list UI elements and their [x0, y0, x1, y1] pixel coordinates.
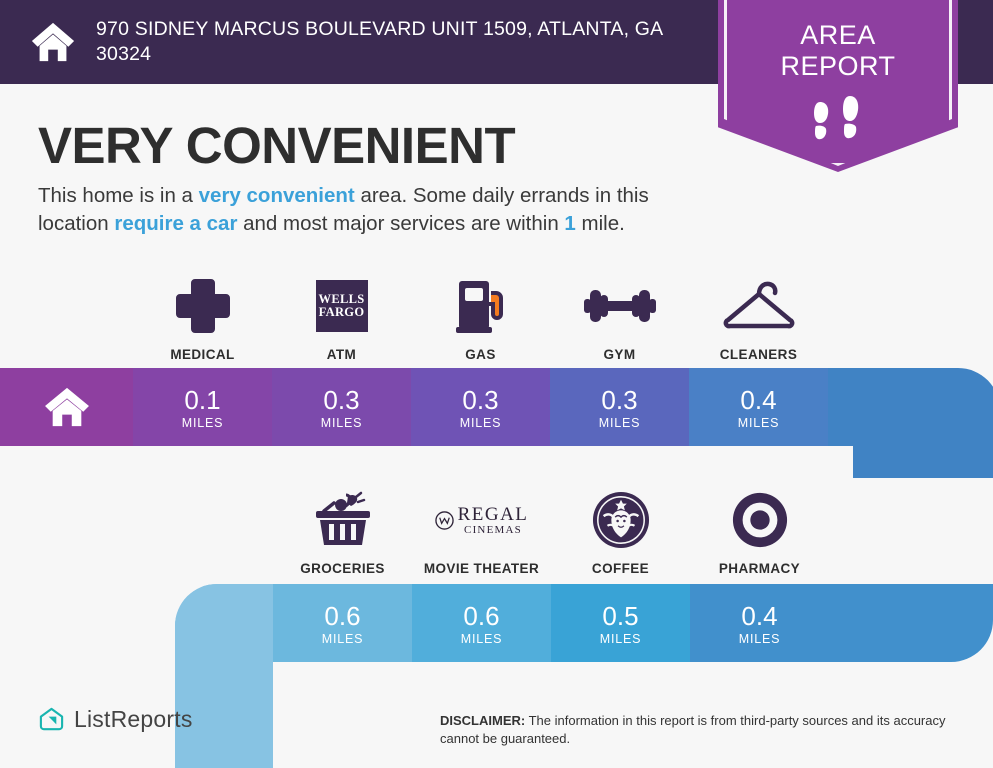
distance-unit: MILES [599, 416, 641, 430]
summary-text-1: This home is in a [38, 184, 199, 207]
service-cleaners: CLEANERS [689, 262, 828, 362]
distance-unit: MILES [460, 416, 502, 430]
listreports-logo-icon [38, 706, 65, 733]
distance-cell-movie-theater: 0.6 MILES [412, 584, 551, 662]
distance-cell-gym: 0.3 MILES [550, 368, 689, 446]
brand-name: ListReports [74, 706, 193, 733]
summary-highlight-2: require a car [114, 212, 237, 235]
distance-value: 0.3 [601, 385, 637, 415]
page-title: VERY CONVENIENT [38, 116, 515, 175]
listreports-brand: ListReports [38, 706, 193, 733]
distance-value: 0.5 [602, 601, 638, 631]
distance-cell-cleaners: 0.4 MILES [689, 368, 828, 446]
distance-value: 0.6 [463, 601, 499, 631]
services-icon-row-top: MEDICAL WELLS FARGO ATM GAS [133, 262, 828, 362]
distance-value: 0.4 [740, 385, 776, 415]
service-coffee: COFFEE [551, 476, 690, 576]
service-medical: MEDICAL [133, 262, 272, 362]
area-report-badge: AREA REPORT [718, 0, 958, 172]
distance-unit: MILES [321, 416, 363, 430]
distance-unit: MILES [461, 632, 503, 646]
service-gas: GAS [411, 262, 550, 362]
home-icon [44, 386, 90, 428]
service-label: GYM [604, 347, 636, 362]
service-label: MEDICAL [170, 347, 234, 362]
services-icon-row-bottom: GROCERIES REGAL CINEMAS MOVIE THEATER [273, 476, 829, 576]
distance-unit: MILES [739, 632, 781, 646]
summary-text-4: mile. [576, 212, 625, 235]
regal-line1: REGAL [458, 505, 529, 524]
badge-title-line2: REPORT [718, 51, 958, 82]
wells-fargo-line2: FARGO [319, 306, 365, 319]
regal-cinemas-logo: REGAL CINEMAS [435, 487, 529, 553]
distance-cell-pharmacy: 0.4 MILES [690, 584, 829, 662]
area-report-infographic: 970 SIDNEY MARCUS BOULEVARD UNIT 1509, A… [0, 0, 993, 768]
summary-highlight-3: 1 [564, 212, 575, 235]
distance-unit: MILES [182, 416, 224, 430]
starbucks-logo [592, 487, 650, 553]
distance-value: 0.4 [741, 601, 777, 631]
distance-unit: MILES [600, 632, 642, 646]
distance-unit: MILES [322, 632, 364, 646]
service-label: GROCERIES [300, 561, 385, 576]
dumbbell-icon [584, 273, 656, 339]
service-label: COFFEE [592, 561, 649, 576]
service-label: PHARMACY [719, 561, 800, 576]
distance-value: 0.3 [462, 385, 498, 415]
service-atm: WELLS FARGO ATM [272, 262, 411, 362]
distance-value: 0.6 [324, 601, 360, 631]
header-address-bar: 970 SIDNEY MARCUS BOULEVARD UNIT 1509, A… [0, 0, 713, 84]
service-label: GAS [465, 347, 495, 362]
medical-cross-icon [174, 273, 232, 339]
summary-highlight-1: very convenient [199, 184, 355, 207]
grocery-basket-icon [312, 487, 374, 553]
service-label: CLEANERS [720, 347, 797, 362]
distance-cell-atm: 0.3 MILES [272, 368, 411, 446]
distance-cell-groceries: 0.6 MILES [273, 584, 412, 662]
service-label: ATM [327, 347, 356, 362]
home-icon [30, 19, 76, 65]
ribbon-bottom-filler [829, 584, 993, 662]
regal-crown-icon [435, 511, 454, 530]
property-address: 970 SIDNEY MARCUS BOULEVARD UNIT 1509, A… [96, 17, 696, 67]
service-label: MOVIE THEATER [424, 561, 539, 576]
disclaimer: DISCLAIMER: The information in this repo… [440, 712, 950, 748]
service-groceries: GROCERIES [273, 476, 412, 576]
ribbon-top-filler [828, 368, 993, 446]
distance-value: 0.3 [323, 385, 359, 415]
distance-cell-coffee: 0.5 MILES [551, 584, 690, 662]
footprints-icon [808, 96, 868, 148]
distance-value: 0.1 [184, 385, 220, 415]
distance-bar-bottom: 0.6 MILES 0.6 MILES 0.5 MILES 0.4 MILES [175, 584, 993, 662]
distance-cell-medical: 0.1 MILES [133, 368, 272, 446]
badge-title-line1: AREA [718, 20, 958, 51]
wells-fargo-logo: WELLS FARGO [316, 273, 368, 339]
distance-unit: MILES [738, 416, 780, 430]
distance-bar-top: 0.1 MILES 0.3 MILES 0.3 MILES 0.3 MILES … [0, 368, 993, 446]
service-movie-theater: REGAL CINEMAS MOVIE THEATER [412, 476, 551, 576]
hanger-icon [720, 273, 798, 339]
regal-line2: CINEMAS [464, 524, 522, 536]
ribbon-bottom-lead-cell [175, 584, 273, 662]
distance-cell-gas: 0.3 MILES [411, 368, 550, 446]
badge-title: AREA REPORT [718, 20, 958, 82]
service-pharmacy: PHARMACY [690, 476, 829, 576]
disclaimer-label: DISCLAIMER: [440, 713, 525, 728]
target-bullseye-logo [731, 487, 789, 553]
service-gym: GYM [550, 262, 689, 362]
summary-paragraph: This home is in a very convenient area. … [38, 182, 708, 238]
gas-pump-icon [453, 273, 509, 339]
summary-text-3: and most major services are within [237, 212, 564, 235]
home-origin-cell [0, 368, 133, 446]
